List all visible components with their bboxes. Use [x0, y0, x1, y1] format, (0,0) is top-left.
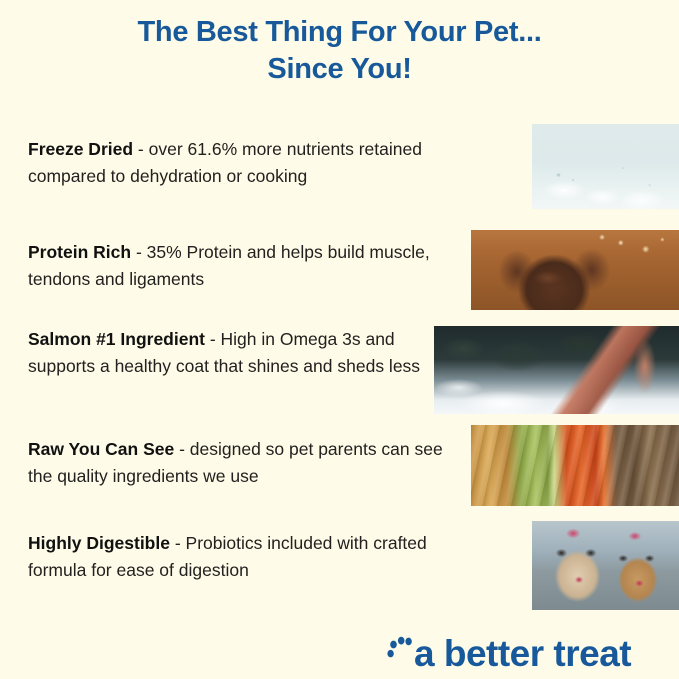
two-small-dogs-with-bows-photo [532, 521, 679, 610]
feature-lead: Salmon #1 Ingredient [28, 329, 205, 349]
paw-print-icon [386, 635, 420, 673]
feature-lead: Freeze Dried [28, 139, 133, 159]
feature-photo-raw-ingredients [471, 425, 679, 506]
feature-item-salmon-first-ingredient: Salmon #1 Ingredient - High in Omega 3s … [28, 326, 446, 380]
infographic-page: The Best Thing For Your Pet... Since You… [0, 0, 679, 679]
feature-item-highly-digestible: Highly Digestible - Probiotics included … [28, 530, 446, 584]
page-title: The Best Thing For Your Pet... Since You… [0, 14, 679, 88]
feature-photo-salmon [434, 326, 679, 414]
freeze-dried-ice-water-photo [532, 124, 679, 209]
brand-logo-text: a better treat [414, 634, 631, 674]
feature-item-freeze-dried: Freeze Dried - over 61.6% more nutrients… [28, 136, 496, 190]
feature-photo-freeze-dried [532, 124, 679, 209]
page-title-line-1: The Best Thing For Your Pet... [0, 14, 679, 51]
brand-logo: a better treat [386, 632, 671, 676]
feature-lead: Raw You Can See [28, 439, 174, 459]
feature-item-protein-rich: Protein Rich - 35% Protein and helps bui… [28, 239, 458, 293]
feature-lead: Highly Digestible [28, 533, 170, 553]
salmon-leaping-river-photo [434, 326, 679, 414]
feature-item-raw-you-can-see: Raw You Can See - designed so pet parent… [28, 436, 446, 490]
feature-photo-highly-digestible [532, 521, 679, 610]
feature-lead: Protein Rich [28, 242, 131, 262]
chocolate-labrador-dog-photo [471, 230, 679, 310]
feature-photo-protein-rich [471, 230, 679, 310]
page-title-line-2: Since You! [0, 51, 679, 88]
freeze-dried-ingredients-photo [471, 425, 679, 506]
